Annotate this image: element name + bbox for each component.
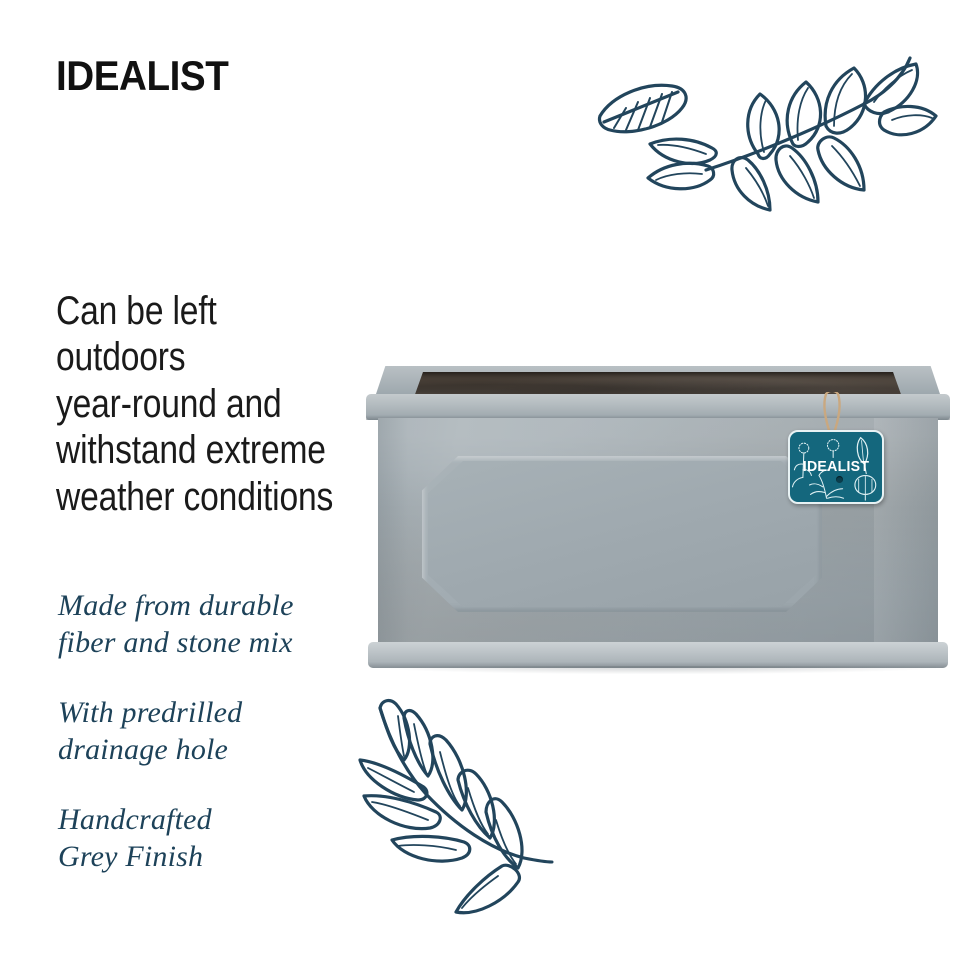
planter-base-plinth — [368, 642, 948, 668]
brand-logo: IDEALIST — [56, 52, 228, 100]
product-feature-graphic: IDEALIST — [0, 0, 960, 960]
leaf-branch-top-right-icon — [578, 42, 950, 217]
product-hang-tag: IDEALIST — [782, 392, 890, 512]
planter-panel-inner — [428, 461, 816, 607]
planter-left-shading — [378, 418, 408, 646]
tag-brand-label: IDEALIST — [793, 458, 879, 475]
feature-item-finish: Handcrafted Grey Finish — [58, 802, 388, 875]
feature-item-material: Made from durable fiber and stone mix — [58, 588, 388, 661]
tag-punch-hole — [836, 476, 843, 483]
feature-item-drainage: With predrilled drainage hole — [58, 695, 388, 768]
planter-drop-shadow — [380, 666, 936, 674]
feature-list: Made from durable fiber and stone mix Wi… — [58, 588, 388, 876]
tag-card: IDEALIST — [788, 430, 884, 504]
leaf-branch-bottom-left-icon — [352, 690, 562, 925]
headline-text: Can be left outdoors year-round and with… — [56, 288, 342, 520]
